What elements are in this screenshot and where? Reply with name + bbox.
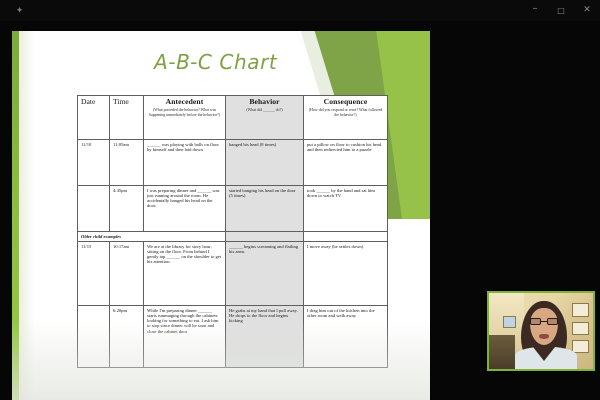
cell-time: 11:05am: [110, 140, 144, 186]
table-row: 11/10 11:05am ______ was playing with ba…: [78, 140, 388, 186]
table-section-separator: Older child examples: [78, 232, 388, 242]
separator-filler-consequence: [304, 232, 388, 242]
cell-behavior: started banging his head on the door (5 …: [226, 186, 304, 232]
cell-behavior: banged his head (8 times): [226, 140, 304, 186]
table-row: 6:20pm While I'm preparing dinner ______…: [78, 306, 388, 368]
cell-consequence: I drag him out of the kitchen into the o…: [304, 306, 388, 368]
cell-consequence: took ______ by the hand and sat him down…: [304, 186, 388, 232]
app-logo: app-logo-icon ✦: [0, 6, 30, 16]
consequence-subtitle: (How did you respond or react? What foll…: [307, 108, 384, 118]
cell-antecedent: I was preparing dinner and ______ was ju…: [144, 186, 226, 232]
column-header-behavior: Behavior (What did ______ do?): [226, 96, 304, 140]
window-titlebar: app-logo-icon ✦: [0, 0, 600, 21]
wall-picture-frame: [572, 322, 589, 335]
abc-chart-table: Date Time Antecedent (What preceded the …: [77, 95, 388, 368]
slide-left-green-strip: [12, 31, 19, 400]
slide-left-fade: [19, 31, 35, 400]
maximize-button[interactable]: [548, 0, 574, 21]
antecedent-title: Antecedent: [147, 98, 222, 107]
cell-time: 4:45pm: [110, 186, 144, 232]
close-button[interactable]: [574, 0, 600, 21]
table-row: 11/15 10:17am We are at the library for …: [78, 242, 388, 306]
antecedent-subtitle: (What preceded the behavior? What was ha…: [147, 108, 222, 118]
cell-date: 11/10: [78, 140, 110, 186]
cell-antecedent: We are at the library for story hour, si…: [144, 242, 226, 306]
cell-consequence: I move away (he settles down): [304, 242, 388, 306]
page-title: A-B-C Chart: [154, 50, 277, 74]
webcam-video-frame: [489, 293, 593, 369]
separator-filler-behavior: [226, 232, 304, 242]
cell-behavior: He grabs at my hand that I pull away. He…: [226, 306, 304, 368]
cell-date: [78, 186, 110, 232]
cell-time: 6:20pm: [110, 306, 144, 368]
cell-behavior: ______ begins screaming and flailing his…: [226, 242, 304, 306]
app-logo-icon: app-logo-icon: [7, 6, 16, 15]
eyeglass-lens-right: [547, 318, 558, 325]
behavior-title: Behavior: [229, 98, 300, 107]
wall-picture-frame: [503, 316, 516, 328]
video-player-window: app-logo-icon ✦ A-B-C Chart: [0, 0, 600, 400]
column-header-time: Time: [110, 96, 144, 140]
wall-picture-frame: [572, 340, 589, 353]
table-row: 4:45pm I was preparing dinner and ______…: [78, 186, 388, 232]
webcam-foreground-object: [489, 335, 515, 369]
cell-time: 10:17am: [110, 242, 144, 306]
presentation-slide[interactable]: A-B-C Chart Date Time Antecedent (What p…: [12, 31, 430, 400]
eyeglasses-icon: [530, 318, 558, 325]
consequence-title: Consequence: [307, 98, 384, 107]
column-header-date: Date: [78, 96, 110, 140]
logo-glyph: ✦: [16, 6, 24, 16]
presenter-webcam-overlay[interactable]: [487, 291, 595, 371]
minimize-button[interactable]: [522, 0, 548, 21]
cell-date: 11/15: [78, 242, 110, 306]
table-header-row: Date Time Antecedent (What preceded the …: [78, 96, 388, 140]
column-header-antecedent: Antecedent (What preceded the behavior? …: [144, 96, 226, 140]
wall-picture-frame: [572, 303, 589, 317]
behavior-subtitle: (What did ______ do?): [229, 108, 300, 113]
cell-date: [78, 306, 110, 368]
cell-consequence: put a pillow on floor to cushion his hea…: [304, 140, 388, 186]
presenter-mouth: [539, 334, 549, 339]
eyeglass-lens-left: [530, 318, 541, 325]
slide-canvas: A-B-C Chart Date Time Antecedent (What p…: [12, 31, 430, 400]
cell-antecedent: While I'm preparing dinner ______ starts…: [144, 306, 226, 368]
column-header-consequence: Consequence (How did you respond or reac…: [304, 96, 388, 140]
separator-label: Older child examples: [78, 232, 226, 242]
cell-antecedent: ______ was playing with balls on floor b…: [144, 140, 226, 186]
